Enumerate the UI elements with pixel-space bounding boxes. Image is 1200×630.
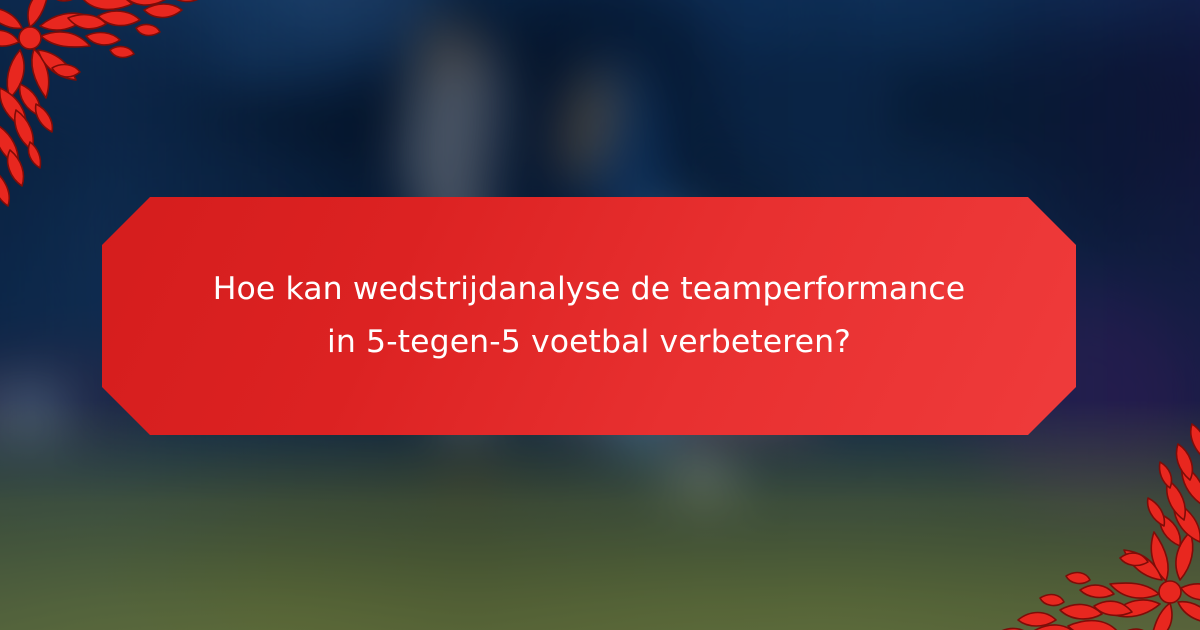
page-title: Hoe kan wedstrijdanalyse de teamperforma… bbox=[130, 263, 1048, 369]
headline-banner: Hoe kan wedstrijdanalyse de teamperforma… bbox=[102, 197, 1076, 435]
social-share-card: Hoe kan wedstrijdanalyse de teamperforma… bbox=[0, 0, 1200, 630]
